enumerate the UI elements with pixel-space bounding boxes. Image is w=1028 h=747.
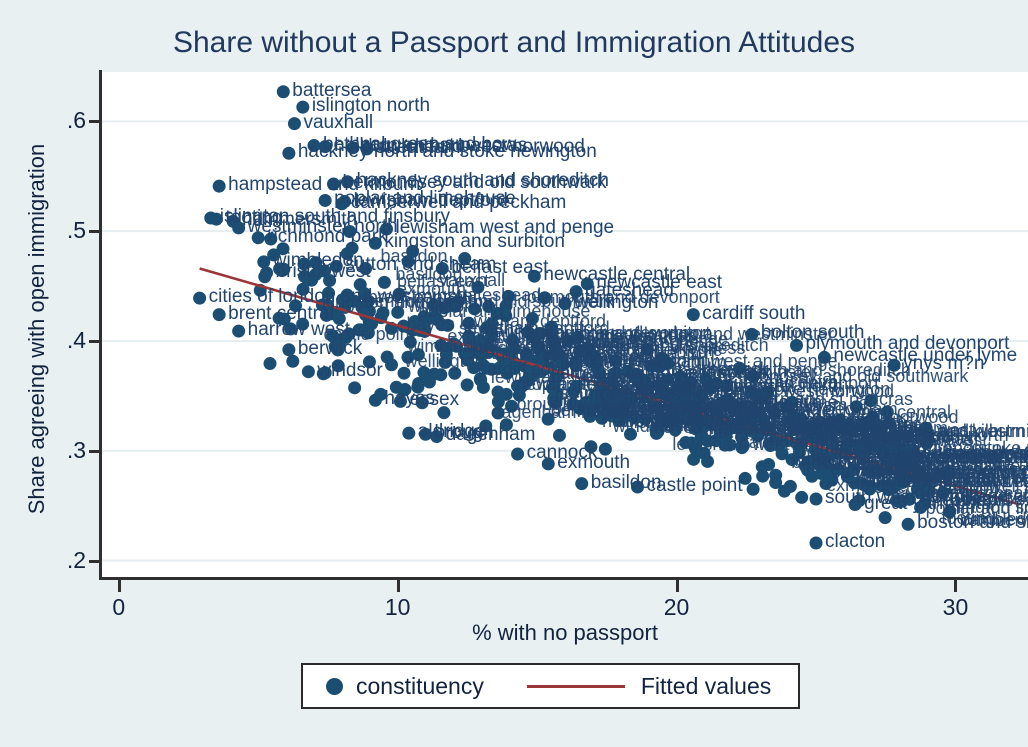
y-axis-line <box>99 70 102 580</box>
scatter-point <box>914 486 927 499</box>
y-tick-label: .5 <box>54 217 86 244</box>
scatter-point <box>507 343 520 356</box>
scatter-point <box>881 405 894 418</box>
scatter-point <box>556 355 569 368</box>
scatter-point <box>850 400 863 413</box>
chart-legend: constituency Fitted values <box>301 663 800 709</box>
scatter-point <box>343 225 356 238</box>
scatter-point <box>721 393 734 406</box>
scatter-point <box>354 278 367 291</box>
scatter-point <box>394 395 407 408</box>
legend-marker-circle-icon <box>326 678 343 695</box>
scatter-point <box>513 389 526 402</box>
scatter-point <box>745 328 758 341</box>
scatter-point <box>435 318 448 331</box>
scatter-point <box>335 197 348 210</box>
scatter-point <box>763 437 776 450</box>
scatter-point <box>319 366 332 379</box>
scatter-point <box>327 177 340 190</box>
x-axis-title: % with no passport <box>102 620 1028 646</box>
scatter-point <box>477 359 490 372</box>
scatter-point <box>787 423 800 436</box>
x-tick-mark <box>397 580 400 592</box>
scatter-point <box>685 376 698 389</box>
scatter-point <box>511 448 524 461</box>
y-tick-label: .6 <box>54 107 86 134</box>
scatter-point <box>385 358 398 371</box>
scatter-point <box>260 266 273 279</box>
scatter-point <box>769 469 782 482</box>
scatter-point <box>841 438 854 451</box>
scatter-point <box>492 386 505 399</box>
scatter-point <box>538 291 551 304</box>
scatter-point <box>439 356 452 369</box>
scatter-points-layer <box>193 85 956 549</box>
scatter-point <box>620 396 633 409</box>
scatter-point <box>588 389 601 402</box>
scatter-point <box>427 299 440 312</box>
scatter-point <box>687 308 700 321</box>
scatter-point <box>329 340 342 353</box>
scatter-point <box>391 306 404 319</box>
scatter-point <box>733 362 746 375</box>
scatter-point <box>875 479 888 492</box>
scatter-point <box>412 348 425 361</box>
scatter-point <box>417 366 430 379</box>
scatter-point <box>430 430 443 443</box>
x-tick-label: 0 <box>89 594 149 621</box>
scatter-point <box>631 480 644 493</box>
scatter-point <box>849 498 862 511</box>
scatter-point <box>719 439 732 452</box>
scatter-point <box>545 321 558 334</box>
scatter-point <box>319 140 332 153</box>
scatter-point <box>866 410 879 423</box>
plot-area: batterseaislington northvauxhallbethnal … <box>102 72 1028 577</box>
scatter-point <box>356 301 369 314</box>
scatter-point <box>714 425 727 438</box>
x-tick-label: 30 <box>925 594 985 621</box>
scatter-point <box>296 101 309 114</box>
y-tick-label: .3 <box>54 437 86 464</box>
scatter-point <box>332 359 345 372</box>
scatter-point <box>369 394 382 407</box>
scatter-point <box>302 365 315 378</box>
scatter-point <box>710 377 723 390</box>
scatter-point <box>581 277 594 290</box>
scatter-point <box>584 440 597 453</box>
scatter-point <box>609 354 622 367</box>
scatter-point <box>340 331 353 344</box>
scatter-point <box>907 460 920 473</box>
scatter-point <box>360 142 373 155</box>
y-tick-label: .2 <box>54 547 86 574</box>
scatter-point <box>863 483 876 496</box>
x-tick-mark <box>676 580 679 592</box>
scatter-point <box>282 343 295 356</box>
scatter-point <box>937 486 950 499</box>
scatter-point <box>735 430 748 443</box>
scatter-point <box>402 427 415 440</box>
scatter-point <box>441 342 454 355</box>
legend-entry-fitted-values[interactable]: Fitted values <box>484 673 771 700</box>
fitted-line-layer <box>200 269 1020 505</box>
scatter-point <box>699 416 712 429</box>
scatter-point <box>359 262 372 275</box>
scatter-point <box>363 355 376 368</box>
scatter-point <box>474 374 487 387</box>
scatter-point <box>319 194 332 207</box>
scatter-point <box>751 388 764 401</box>
legend-entry-constituency[interactable]: constituency <box>303 673 484 700</box>
scatter-point <box>920 422 933 435</box>
scatter-point <box>318 264 331 277</box>
scatter-point <box>213 308 226 321</box>
scatter-point <box>622 365 635 378</box>
scatter-point <box>784 480 797 493</box>
scatter-point <box>739 472 752 485</box>
scatter-point <box>810 536 823 549</box>
scatter-point <box>571 331 584 344</box>
scatter-point <box>333 312 346 325</box>
scatter-point <box>273 262 286 275</box>
scatter-point <box>933 468 946 481</box>
scatter-plot-figure: Share without a Passport and Immigration… <box>0 0 1028 747</box>
scatter-point <box>437 406 450 419</box>
scatter-point <box>277 85 290 98</box>
scatter-point <box>790 339 803 352</box>
scatter-point <box>550 387 563 400</box>
scatter-point <box>320 309 333 322</box>
scatter-point <box>805 456 818 469</box>
scatter-point <box>232 221 245 234</box>
x-tick-mark <box>954 580 957 592</box>
scatter-point <box>297 283 310 296</box>
y-tick-mark <box>89 560 100 563</box>
scatter-point <box>569 357 582 370</box>
scatter-point <box>458 252 471 265</box>
y-tick-label: .4 <box>54 327 86 354</box>
scatter-point <box>570 285 583 298</box>
legend-marker-line-icon <box>527 685 625 688</box>
scatter-point <box>468 302 481 315</box>
scatter-point <box>296 318 309 331</box>
scatter-point <box>757 413 770 426</box>
scatter-point <box>416 396 429 409</box>
scatter-point <box>599 443 612 456</box>
scatter-point <box>943 506 956 519</box>
scatter-point <box>701 455 714 468</box>
y-axis-title: Share agreeing with open immigration <box>24 99 50 559</box>
scatter-point <box>322 287 335 300</box>
scatter-point <box>341 175 354 188</box>
scatter-point <box>747 370 760 383</box>
scatter-point <box>902 518 915 531</box>
y-tick-mark <box>89 450 100 453</box>
scatter-point <box>398 367 411 380</box>
scatter-point <box>273 312 286 325</box>
scatter-point <box>661 373 674 386</box>
scatter-point <box>674 388 687 401</box>
y-tick-mark <box>89 120 100 123</box>
x-tick-label: 10 <box>368 594 428 621</box>
scatter-point <box>641 343 654 356</box>
scatter-point <box>826 415 839 428</box>
scatter-point <box>661 357 674 370</box>
scatter-point <box>499 309 512 322</box>
scatter-point <box>542 413 555 426</box>
scatter-point <box>404 336 417 349</box>
scatter-point <box>257 255 270 268</box>
scatter-point <box>521 374 534 387</box>
scatter-point <box>574 402 587 415</box>
scatter-point <box>376 306 389 319</box>
scatter-point <box>348 381 361 394</box>
scatter-point <box>393 288 406 301</box>
scatter-point <box>701 435 714 448</box>
scatter-point <box>624 428 637 441</box>
scatter-point <box>532 327 545 340</box>
scatter-point <box>193 292 206 305</box>
scatter-point <box>508 362 521 375</box>
y-tick-mark <box>89 230 100 233</box>
scatter-point <box>492 407 505 420</box>
scatter-point <box>762 458 775 471</box>
scatter-point <box>528 270 541 283</box>
scatter-point <box>559 297 572 310</box>
scatter-point <box>575 477 588 490</box>
scatter-point <box>485 327 498 340</box>
scatter-point <box>419 428 432 441</box>
scatter-point <box>655 411 668 424</box>
scatter-point <box>479 419 492 432</box>
x-tick-mark <box>118 580 121 592</box>
scatter-point <box>232 325 245 338</box>
scatter-point <box>629 412 642 425</box>
scatter-point <box>461 378 474 391</box>
legend-label-constituency: constituency <box>356 673 484 700</box>
scatter-point <box>526 312 539 325</box>
scatter-point <box>832 463 845 476</box>
scatter-point <box>818 351 831 364</box>
scatter-point <box>213 180 226 193</box>
scatter-point <box>747 483 760 496</box>
scatter-point <box>341 247 354 260</box>
scatter-point <box>893 495 906 508</box>
scatter-point <box>369 237 382 250</box>
fitted-values-line <box>200 269 1020 505</box>
scatter-point <box>645 360 658 373</box>
scatter-point <box>858 442 871 455</box>
y-tick-mark <box>89 340 100 343</box>
scatter-point <box>289 299 302 312</box>
scatter-point <box>920 437 933 450</box>
legend-label-fitted-values: Fitted values <box>641 673 771 700</box>
scatter-point <box>307 139 320 152</box>
scatter-point <box>449 300 462 313</box>
x-axis-line <box>99 577 1028 580</box>
scatter-point <box>264 232 277 245</box>
scatter-point <box>448 367 461 380</box>
scatter-point <box>553 429 566 442</box>
scatter-point <box>888 359 901 372</box>
scatter-point <box>901 430 914 443</box>
scatter-point <box>252 231 265 244</box>
scatter-point <box>378 276 391 289</box>
scatter-point <box>882 417 895 430</box>
x-tick-label: 20 <box>647 594 707 621</box>
scatter-point <box>879 511 892 524</box>
scatter-point <box>918 497 931 510</box>
scatter-point <box>380 222 393 235</box>
scatter-point <box>505 400 518 413</box>
scatter-point <box>210 213 223 226</box>
scatter-point <box>298 257 311 270</box>
scatter-point <box>582 353 595 366</box>
scatter-point <box>810 493 823 506</box>
scatter-point <box>542 457 555 470</box>
scatter-point <box>286 355 299 368</box>
scatter-point <box>786 396 799 409</box>
scatter-point <box>263 357 276 370</box>
scatter-point <box>462 317 475 330</box>
scatter-point <box>406 245 419 258</box>
scatter-point <box>864 394 877 407</box>
scatter-point <box>500 418 513 431</box>
page-title: Share without a Passport and Immigration… <box>0 26 1028 60</box>
scatter-point <box>650 427 663 440</box>
scatter-point <box>288 117 301 130</box>
scatter-point <box>330 260 343 273</box>
scatter-point <box>347 141 360 154</box>
scatter-point <box>570 380 583 393</box>
scatter-point <box>436 262 449 275</box>
scatter-point <box>390 381 403 394</box>
scatter-point <box>282 147 295 160</box>
scatter-point <box>795 491 808 504</box>
scatter-point <box>471 281 484 294</box>
scatter-point <box>768 407 781 420</box>
scatter-point <box>685 436 698 449</box>
scatter-point <box>502 290 515 303</box>
plot-canvas <box>102 72 1028 577</box>
